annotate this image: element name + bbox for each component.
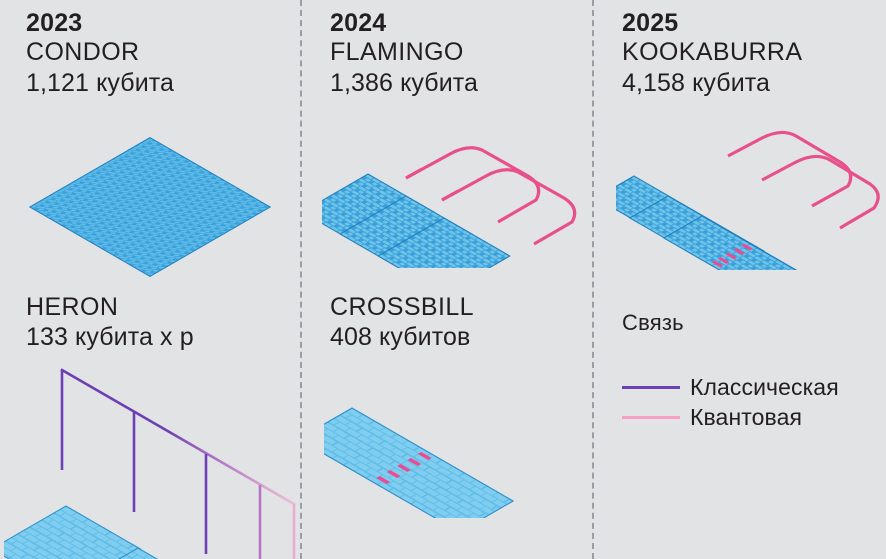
generation-name: CROSSBILL <box>330 292 474 322</box>
column-2023: 2023 CONDOR 1,121 кубита HERON 133 кубит… <box>0 0 300 559</box>
crossbill-chip-graphic <box>324 388 576 518</box>
column-subheader-crossbill: CROSSBILL 408 кубитов <box>330 292 474 353</box>
heron-chain-graphic <box>4 358 300 559</box>
column-header-2025: 2025 KOOKABURRA 4,158 кубита <box>622 10 802 99</box>
column-subheader-heron: HERON 133 кубита х р <box>26 292 194 353</box>
year-label: 2024 <box>330 10 478 37</box>
legend-item-classical: Классическая <box>622 372 886 402</box>
condor-chip-graphic <box>10 125 290 290</box>
year-label: 2023 <box>26 10 174 37</box>
column-header-2024: 2024 FLAMINGO 1,386 кубита <box>330 10 478 99</box>
qubit-count: 133 кубита х р <box>26 322 194 353</box>
qubit-count: 4,158 кубита <box>622 68 802 99</box>
generation-name: HERON <box>26 292 194 322</box>
generation-name: FLAMINGO <box>330 37 478 68</box>
qubit-count: 1,386 кубита <box>330 68 478 99</box>
quantum-line-swatch <box>622 416 680 419</box>
legend-label: Классическая <box>690 374 839 401</box>
column-2025: 2025 KOOKABURRA 4,158 кубита <box>594 0 886 559</box>
generation-name: KOOKABURRA <box>622 37 802 68</box>
infographic-root: 2023 CONDOR 1,121 кубита HERON 133 кубит… <box>0 0 886 559</box>
legend-item-quantum: Квантовая <box>622 402 886 432</box>
column-2024: 2024 FLAMINGO 1,386 кубита <box>302 0 592 559</box>
classical-line-swatch <box>622 386 680 389</box>
generation-name: CONDOR <box>26 37 174 68</box>
year-label: 2025 <box>622 10 802 37</box>
kookaburra-chip-graphic <box>616 118 884 270</box>
legend-label: Квантовая <box>690 404 802 431</box>
flamingo-chip-graphic <box>322 118 592 268</box>
qubit-count: 408 кубитов <box>330 322 474 353</box>
legend: Классическая Квантовая <box>622 372 886 432</box>
legend-title: Связь <box>622 310 684 336</box>
qubit-count: 1,121 кубита <box>26 68 174 99</box>
column-header-2023: 2023 CONDOR 1,121 кубита <box>26 10 174 99</box>
